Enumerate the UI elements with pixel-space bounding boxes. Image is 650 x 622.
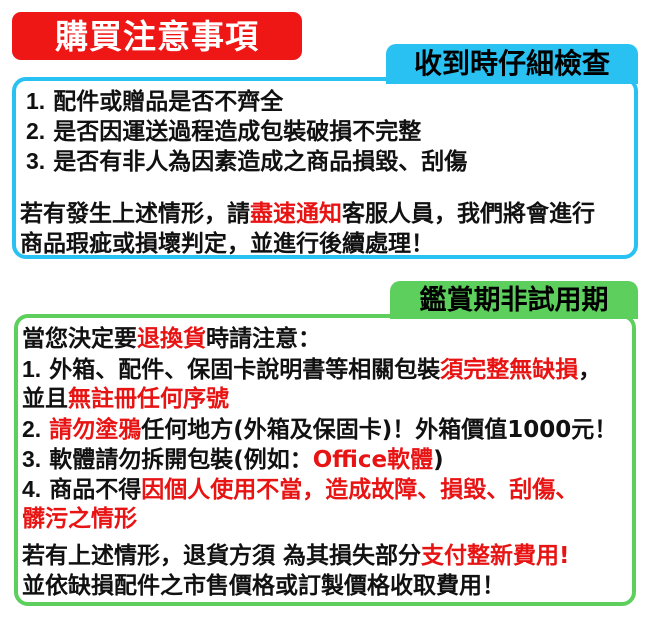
purchase-notice-title: 購買注意事項: [55, 20, 259, 53]
inspection-banner-label: 收到時仔細檢查: [414, 50, 610, 78]
return-policy-content-box: [14, 314, 636, 606]
inspection-content-box: [12, 77, 638, 259]
return-policy-banner-label: 鑑賞期非試用期: [420, 287, 609, 314]
return-policy-banner: 鑑賞期非試用期: [390, 281, 638, 319]
inspection-banner: 收到時仔細檢查: [386, 44, 638, 84]
purchase-notice-banner: 購買注意事項: [12, 12, 302, 60]
